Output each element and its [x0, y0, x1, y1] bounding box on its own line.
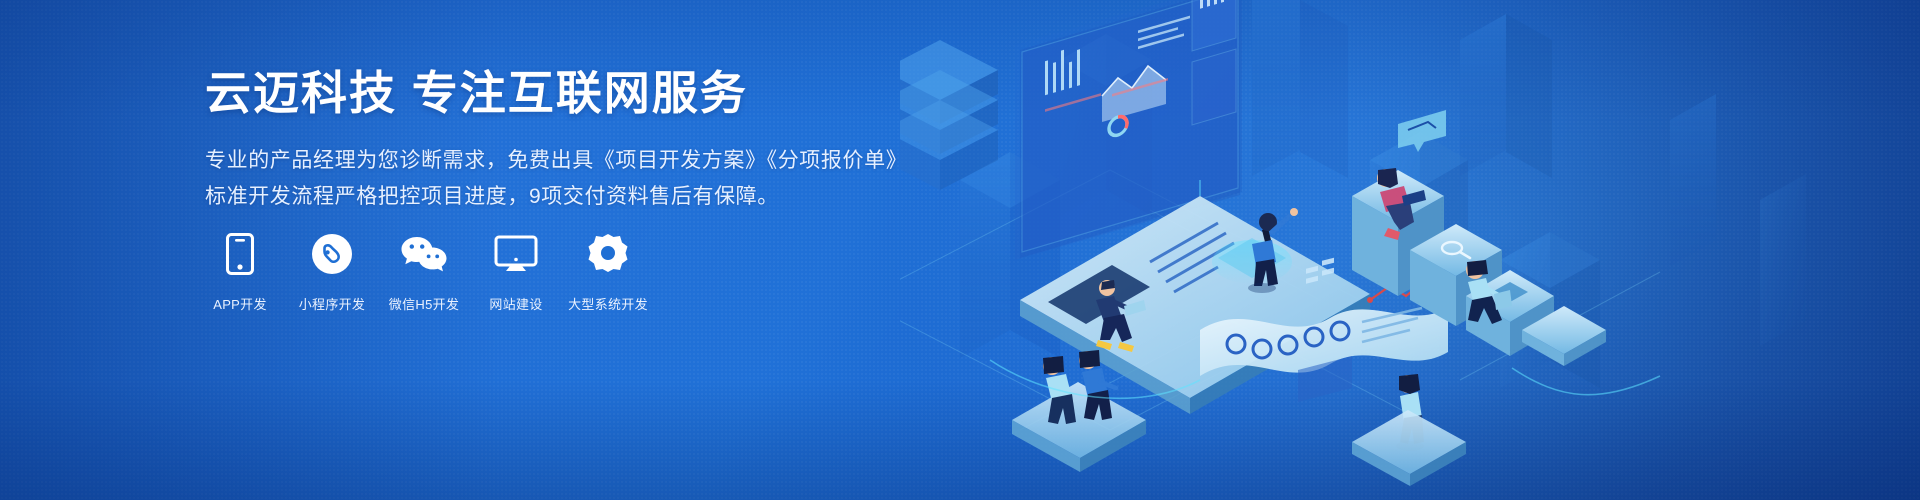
- service-label: 微信H5开发: [389, 294, 459, 313]
- monitor-icon: [494, 232, 538, 276]
- gear-icon: [587, 232, 629, 276]
- page-title: 云迈科技 专注互联网服务: [205, 66, 905, 120]
- stacked-server-block: [900, 40, 998, 190]
- service-list: APP开发 小程序开发: [205, 232, 643, 313]
- service-item-mini-program[interactable]: 小程序开发: [297, 232, 367, 313]
- banner-subtitle: 专业的产品经理为您诊断需求，免费出具《项目开发方案》《分项报价单》 标准开发流程…: [205, 143, 905, 214]
- service-label: APP开发: [213, 294, 267, 313]
- front-pad: [1352, 410, 1466, 486]
- wechat-icon: [400, 232, 448, 276]
- service-item-website[interactable]: 网站建设: [481, 232, 551, 313]
- service-label: 网站建设: [489, 294, 542, 313]
- subtitle-line-2: 标准开发流程严格把控项目进度，9项交付资料售后有保障。: [205, 179, 905, 214]
- hero-banner: 云迈科技 专注互联网服务 专业的产品经理为您诊断需求，免费出具《项目开发方案》《…: [0, 0, 1920, 500]
- mini-program-icon: [311, 232, 353, 276]
- service-item-large-system[interactable]: 大型系统开发: [573, 232, 643, 313]
- service-item-wechat-h5[interactable]: 微信H5开发: [389, 232, 459, 313]
- service-item-app[interactable]: APP开发: [205, 232, 275, 313]
- banner-text-block: 云迈科技 专注互联网服务 专业的产品经理为您诊断需求，免费出具《项目开发方案》《…: [205, 66, 905, 214]
- isometric-illustration: [900, 0, 1920, 500]
- service-label: 大型系统开发: [568, 294, 648, 313]
- subtitle-line-1: 专业的产品经理为您诊断需求，免费出具《项目开发方案》《分项报价单》: [205, 143, 905, 178]
- mobile-phone-icon: [226, 232, 254, 276]
- service-label: 小程序开发: [299, 294, 366, 313]
